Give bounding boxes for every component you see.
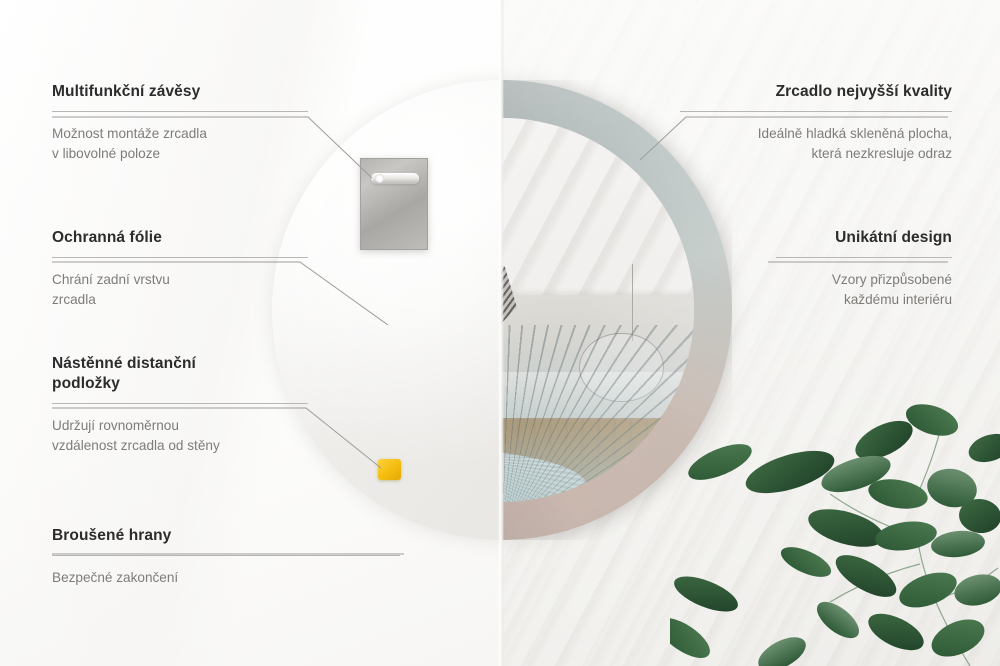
feature-desc-line1: Chrání zadní vrstvu bbox=[52, 272, 170, 287]
feature-zrcadlo-nejvyssi-kvality: Zrcadlo nejvyšší kvality Ideálně hladká … bbox=[680, 82, 952, 165]
feature-desc-line1: Ideálně hladká skleněná plocha, bbox=[758, 126, 952, 141]
feature-description: Vzory přizpůsobené každému interiéru bbox=[776, 270, 952, 311]
feature-description: Bezpečné zakončení bbox=[52, 568, 400, 588]
feature-divider bbox=[52, 111, 308, 112]
feature-divider bbox=[52, 257, 308, 258]
feature-ochranna-folie: Ochranná fólie Chrání zadní vrstvu zrcad… bbox=[52, 228, 308, 311]
feature-divider bbox=[52, 555, 400, 556]
feature-brousene-hrany: Broušené hrany Bezpečné zakončení bbox=[52, 526, 400, 588]
feature-desc-line1: Možnost montáže zrcadla bbox=[52, 126, 207, 141]
feature-title: Multifunkční závěsy bbox=[52, 82, 308, 102]
feature-desc-line2: která nezkresluje odraz bbox=[811, 146, 952, 161]
feature-unikatni-design: Unikátní design Vzory přizpůsobené každé… bbox=[776, 228, 952, 311]
feature-divider bbox=[776, 257, 952, 258]
feature-description: Chrání zadní vrstvu zrcadla bbox=[52, 270, 308, 311]
feature-description: Ideálně hladká skleněná plocha, která ne… bbox=[680, 124, 952, 165]
feature-desc-line1: Vzory přizpůsobené bbox=[832, 272, 952, 287]
feature-title: Zrcadlo nejvyšší kvality bbox=[680, 82, 952, 102]
feature-title: Unikátní design bbox=[776, 228, 952, 248]
feature-description: Udržují rovnoměrnou vzdálenost zrcadla o… bbox=[52, 416, 308, 457]
feature-title: Ochranná fólie bbox=[52, 228, 308, 248]
feature-desc-line2: zrcadla bbox=[52, 292, 96, 307]
feature-nastenne-distancni-podlozky: Nástěnné distanční podložky Udržují rovn… bbox=[52, 354, 308, 456]
feature-divider bbox=[680, 111, 952, 112]
feature-title: Nástěnné distanční podložky bbox=[52, 354, 308, 394]
feature-title-line2: podložky bbox=[52, 375, 120, 392]
feature-desc-line2: každému interiéru bbox=[844, 292, 952, 307]
infographic-canvas: Multifunkční závěsy Možnost montáže zrca… bbox=[0, 0, 1000, 666]
feature-divider bbox=[52, 403, 308, 404]
feature-desc-line2: v libovolné poloze bbox=[52, 146, 160, 161]
feature-multifunkcni-zavesy: Multifunkční závěsy Možnost montáže zrca… bbox=[52, 82, 308, 165]
feature-description: Možnost montáže zrcadla v libovolné polo… bbox=[52, 124, 308, 165]
feature-title-line1: Nástěnné distanční bbox=[52, 355, 196, 372]
feature-desc-line1: Udržují rovnoměrnou bbox=[52, 418, 179, 433]
feature-desc-line2: vzdálenost zrcadla od stěny bbox=[52, 438, 220, 453]
feature-title: Broušené hrany bbox=[52, 526, 400, 546]
